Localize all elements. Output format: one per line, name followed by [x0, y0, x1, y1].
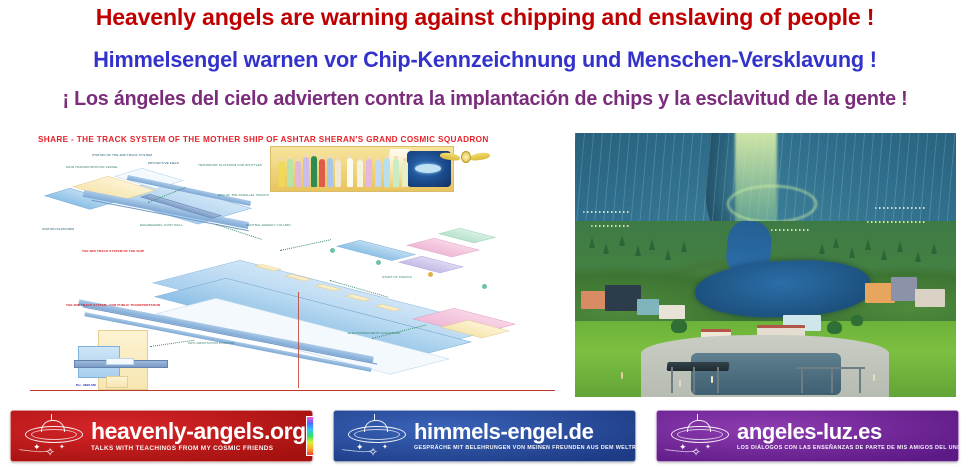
cosmic-crew-photo-strip [270, 146, 454, 192]
headline-german: Himmelsengel warnen vor Chip-Kennzeichnu… [7, 47, 962, 73]
building [659, 305, 685, 319]
picture-number-label: Pic. 8887 [32, 394, 69, 395]
diagram-label-8: THE 2ND TRACK SYSTEM - FOR PUBLIC TRANSP… [66, 304, 160, 308]
diagram-label-4: END OF THE PARALLEL TRACKS [218, 194, 269, 198]
diagram-label-3: TRANSPORT PLATFORM FOR SHUTTLES [198, 164, 262, 168]
track-system-diagram: SHARE - THE TRACK SYSTEM OF THE MOTHER S… [30, 132, 555, 395]
diagram-label-1: MAIN TRANSPORTATION VESSEL [66, 166, 118, 170]
person [711, 376, 713, 383]
diagram-inset-caption: Pic. 4896-5M [76, 384, 96, 388]
diagram-label-9: CENTRAL ENERGY COLUMN [246, 224, 291, 228]
dome-lights [875, 207, 927, 209]
person [621, 372, 623, 379]
rainbow-swatch-icon [306, 416, 313, 456]
building [605, 285, 641, 311]
diagram-label-10: START OF TRACKS [382, 276, 412, 280]
canopy [667, 362, 730, 371]
diagram-label-0: STATION OF THE 2ND TRACK SYSTEM [92, 154, 152, 158]
dome-lights [583, 211, 629, 213]
headline-block: Heavenly angels are warning against chip… [0, 0, 970, 125]
diagram-label-6: ENGINEERING JOINT WALL [140, 224, 183, 228]
diagram-label-11: ELECTROMAGNETIC ELEVATORS [348, 332, 400, 336]
headline-spanish: ¡ Los ángeles del cielo advierten contra… [7, 88, 962, 111]
person [873, 374, 875, 381]
diagram-label-12: ANTI-GRAVITATION POSITION [188, 342, 235, 346]
banner-heavenly-angels-org[interactable]: ✦✧✦ heavenly-angels.org TALKS WITH TEACH… [10, 410, 313, 462]
headline-english: Heavenly angels are warning against chip… [7, 4, 962, 31]
dome-lights [771, 229, 811, 231]
banner-tagline: TALKS WITH TEACHINGS FROM MY COSMIC FRIE… [91, 445, 306, 452]
squadron-wings-emblem [440, 148, 490, 166]
dome-lights [591, 225, 631, 227]
banner-tagline: LOS DIÁLOGOS CON LAS ENSEÑANZAS DE PARTE… [737, 445, 959, 451]
building [637, 299, 659, 315]
diagram-label-5: STATION PLATFORM [42, 228, 74, 232]
banner-himmels-engel-de[interactable]: ✦✧✦ himmels-engel.de GESPRÄCHE MIT BELEH… [333, 410, 636, 462]
figures-row: SHARE - THE TRACK SYSTEM OF THE MOTHER S… [0, 130, 970, 402]
banner-angeles-luz-es[interactable]: ✦✧✦ angeles-luz.es LOS DIÁLOGOS CON LAS … [656, 410, 959, 462]
banner-domain: himmels-engel.de [414, 421, 636, 443]
diagram-label-7: THE 3RD TRACK SYSTEM OF THE SHIP [82, 250, 144, 254]
building [891, 277, 917, 301]
banner-domain: heavenly-angels.org [91, 420, 306, 443]
banner-domain: angeles-luz.es [737, 421, 959, 443]
dome-lights [867, 221, 925, 223]
light-halo [727, 185, 817, 223]
site-banner-row: ✦✧✦ heavenly-angels.org TALKS WITH TEACH… [0, 410, 970, 467]
person [679, 380, 681, 387]
mothership-interior-painting [575, 133, 956, 397]
ufo-icon: ✦✧✦ [15, 413, 89, 459]
diagram-label-2: PROTECTIVE FIELD [148, 162, 179, 166]
diagram-title: SHARE - THE TRACK SYSTEM OF THE MOTHER S… [38, 135, 550, 144]
building [915, 289, 945, 307]
ufo-icon: ✦✧✦ [338, 413, 412, 459]
pool [691, 353, 841, 395]
ufo-icon: ✦✧✦ [661, 413, 735, 459]
banner-tagline: GESPRÄCHE MIT BELEHRUNGEN VON MEINEN FRE… [414, 445, 636, 451]
